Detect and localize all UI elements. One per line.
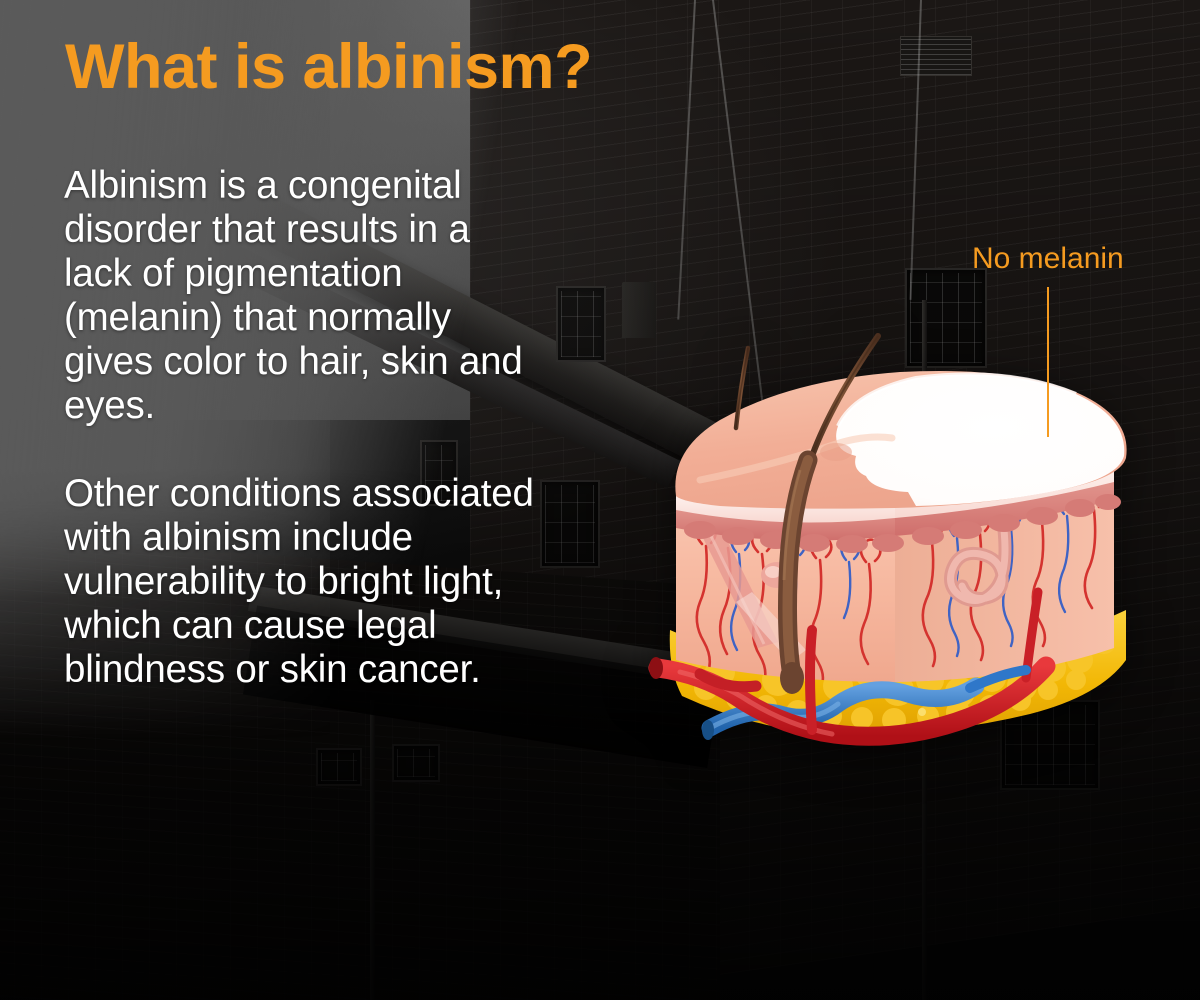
follicle-dimple xyxy=(820,443,852,461)
artery-ascending xyxy=(810,630,812,730)
no-melanin-label: No melanin xyxy=(972,244,1124,274)
infographic-canvas: What is albinism? Albinism is a congenit… xyxy=(0,0,1200,1000)
page-title: What is albinism? xyxy=(65,36,592,99)
body-paragraph-1: Albinism is a congenital disorder that r… xyxy=(64,164,544,428)
body-paragraph-2: Other conditions associated with albinis… xyxy=(64,472,544,692)
vein-cut-end xyxy=(702,720,714,740)
no-melanin-leader-line xyxy=(1047,287,1049,437)
skin-cross-section-illustration xyxy=(640,330,1160,770)
artery-cut-end xyxy=(649,657,663,679)
